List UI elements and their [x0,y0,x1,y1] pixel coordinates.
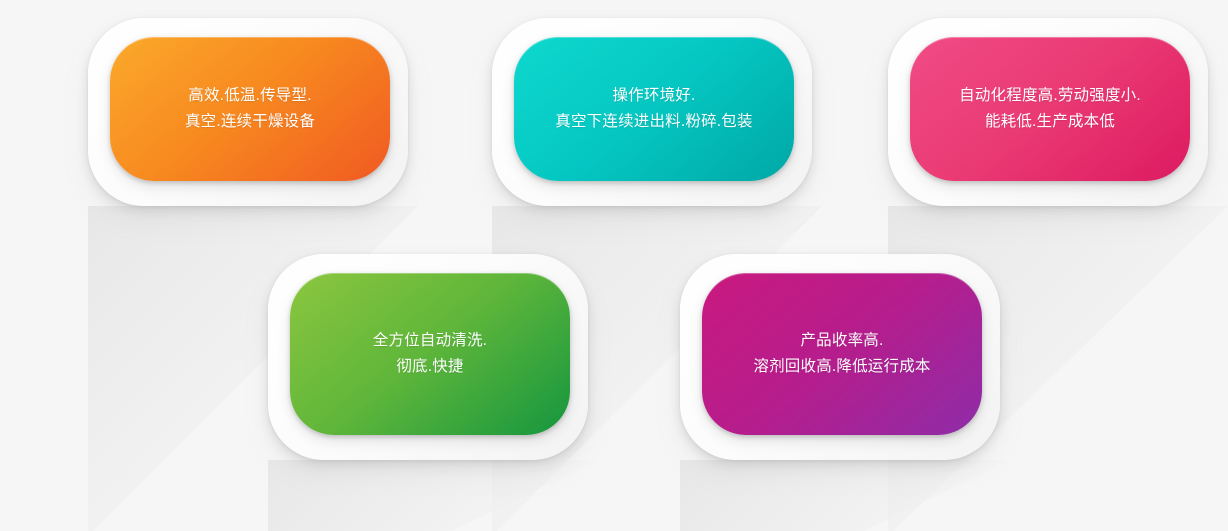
card-text: 高效.低温.传导型. 真空.连续干燥设备 [185,83,315,135]
feature-card[interactable]: 产品收率高. 溶剂回收高.降低运行成本 [680,254,1000,460]
feature-card-board: 高效.低温.传导型. 真空.连续干燥设备操作环境好. 真空下连续进出料.粉碎.包… [0,0,1228,531]
card-color-panel[interactable]: 产品收率高. 溶剂回收高.降低运行成本 [702,273,982,435]
feature-card[interactable]: 操作环境好. 真空下连续进出料.粉碎.包装 [492,18,812,206]
diagonal-shadow-streak [680,460,1010,531]
card-text: 自动化程度高.劳动强度小. 能耗低.生产成本低 [959,83,1141,135]
diagonal-shadow-streak [268,460,598,531]
feature-card[interactable]: 全方位自动清洗. 彻底.快捷 [268,254,588,460]
card-color-panel[interactable]: 全方位自动清洗. 彻底.快捷 [290,273,570,435]
card-text: 产品收率高. 溶剂回收高.降低运行成本 [753,328,930,380]
card-text: 全方位自动清洗. 彻底.快捷 [373,328,487,380]
card-text: 操作环境好. 真空下连续进出料.粉碎.包装 [555,83,752,135]
card-color-panel[interactable]: 高效.低温.传导型. 真空.连续干燥设备 [110,37,390,181]
feature-card[interactable]: 高效.低温.传导型. 真空.连续干燥设备 [88,18,408,206]
card-color-panel[interactable]: 操作环境好. 真空下连续进出料.粉碎.包装 [514,37,794,181]
feature-card[interactable]: 自动化程度高.劳动强度小. 能耗低.生产成本低 [888,18,1208,206]
card-color-panel[interactable]: 自动化程度高.劳动强度小. 能耗低.生产成本低 [910,37,1190,181]
